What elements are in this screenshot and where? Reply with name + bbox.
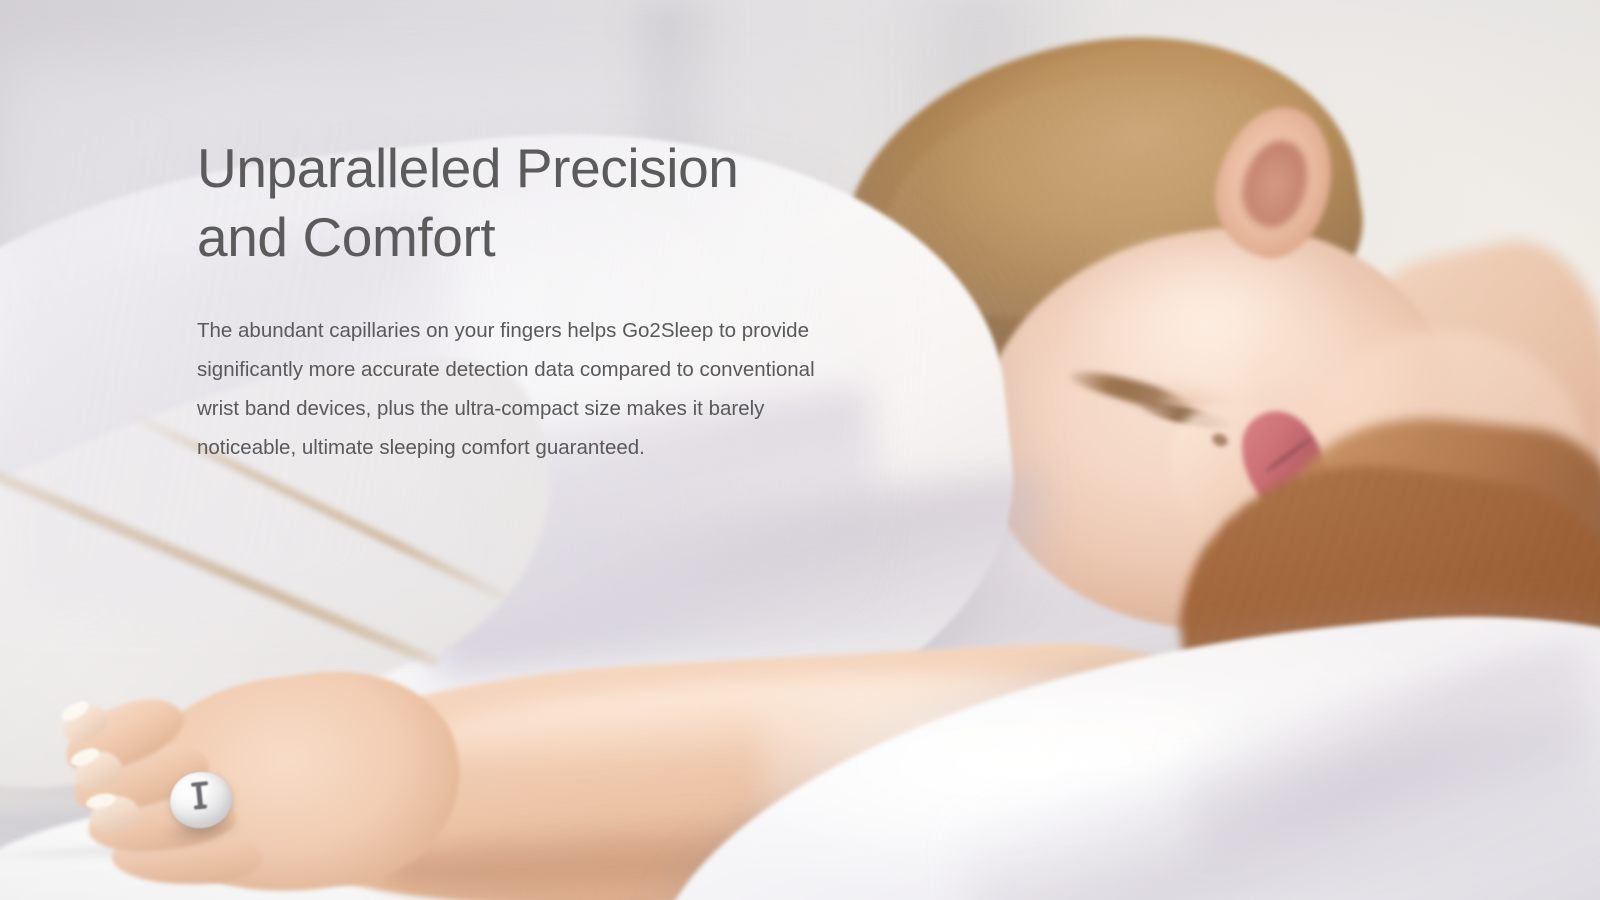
page-title: Unparalleled Precision and Comfort xyxy=(197,134,877,273)
hero-description: The abundant capillaries on your fingers… xyxy=(197,311,857,467)
product-hero-banner: Unparalleled Precision and Comfort The a… xyxy=(0,0,1600,900)
hero-copy-block: Unparalleled Precision and Comfort The a… xyxy=(197,134,877,467)
